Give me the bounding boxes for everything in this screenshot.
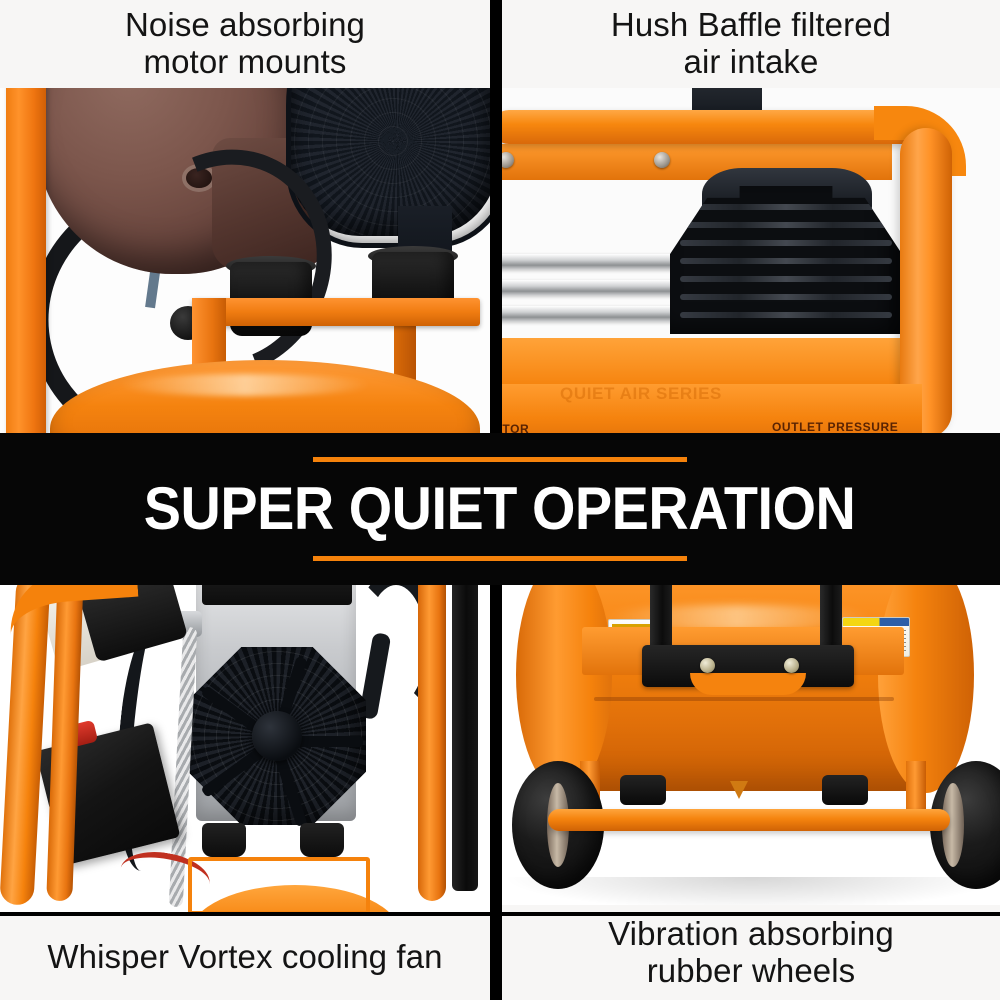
label-outlet-pressure: OUTLET PRESSURE xyxy=(772,420,898,434)
caption-hush-baffle-air-intake: Hush Baffle filtered air intake xyxy=(502,0,1000,88)
caption-line-1: Vibration absorbing xyxy=(602,916,900,953)
pump-foot-right xyxy=(300,823,344,857)
rubber-foot-right xyxy=(822,775,868,805)
banner-title: SUPER QUIET OPERATION xyxy=(144,479,856,539)
baffle-fin xyxy=(680,222,892,228)
caption-line-2: rubber wheels xyxy=(602,953,900,990)
photo-motor-mounts xyxy=(0,88,490,438)
photo-cooling-fan xyxy=(0,585,490,915)
super-quiet-operation-banner: SUPER QUIET OPERATION xyxy=(0,433,1000,585)
caption-line-2: motor mounts xyxy=(119,44,371,81)
orange-axle-bar xyxy=(548,809,950,831)
pump-foot-left xyxy=(202,823,246,857)
caption-line-1: Whisper Vortex cooling fan xyxy=(41,939,448,976)
chrome-rail-3 xyxy=(502,306,678,322)
tank-seam xyxy=(594,697,894,701)
gutter-vertical-top xyxy=(490,0,502,433)
orange-mount-bracket xyxy=(192,298,480,326)
baffle-fin xyxy=(680,258,892,264)
orange-frame-tube-right xyxy=(418,585,446,901)
fan-hub xyxy=(252,711,302,761)
plate-screw-right xyxy=(654,152,670,168)
chrome-rail-1 xyxy=(502,254,682,270)
caption-line-1: Noise absorbing xyxy=(119,7,371,44)
orange-base-frame xyxy=(188,857,370,915)
gutter-vertical-bottom xyxy=(490,585,502,1000)
orange-frame-tube-top xyxy=(502,110,922,144)
pump-housing-top-cover xyxy=(202,585,352,605)
caption-whisper-vortex-cooling-fan: Whisper Vortex cooling fan xyxy=(0,915,490,1000)
baffle-fin xyxy=(680,240,892,246)
rubber-foot-left xyxy=(620,775,666,805)
tank-highlight xyxy=(120,374,370,396)
orange-frame-post xyxy=(6,88,46,438)
caption-line-1: Hush Baffle filtered xyxy=(605,7,897,44)
banner-rule-bottom xyxy=(313,556,687,561)
caption-noise-absorbing-motor-mounts: Noise absorbing motor mounts xyxy=(0,0,490,88)
baffle-fin xyxy=(680,204,892,210)
gutter-horizontal-bottom-left xyxy=(0,912,490,916)
orange-frame-bend xyxy=(7,585,144,675)
caption-line-2: air intake xyxy=(605,44,897,81)
bracket-screw-left xyxy=(700,658,715,673)
baffle-fin xyxy=(680,294,892,300)
bracket-screw-right xyxy=(784,658,799,673)
photo-hush-baffle: QUIET AIR SERIES ATOR QUIET AIR SERIES O… xyxy=(502,88,1000,438)
chrome-rail-2 xyxy=(502,280,682,296)
feature-collage: Noise absorbing motor mounts Hush Baffle… xyxy=(0,0,1000,1000)
label-series-ghost: QUIET AIR SERIES xyxy=(560,384,722,404)
banner-rule-top xyxy=(313,457,687,462)
gutter-horizontal-bottom-right xyxy=(502,912,1000,916)
baffle-fin xyxy=(680,312,892,318)
black-handle-post xyxy=(452,585,478,891)
baffle-fin xyxy=(680,276,892,282)
photo-rubber-wheels xyxy=(502,585,1000,915)
hush-baffle-fins-group xyxy=(670,186,902,334)
caption-vibration-absorbing-rubber-wheels: Vibration absorbing rubber wheels xyxy=(502,905,1000,1000)
handle-bracket-notch xyxy=(690,673,806,695)
